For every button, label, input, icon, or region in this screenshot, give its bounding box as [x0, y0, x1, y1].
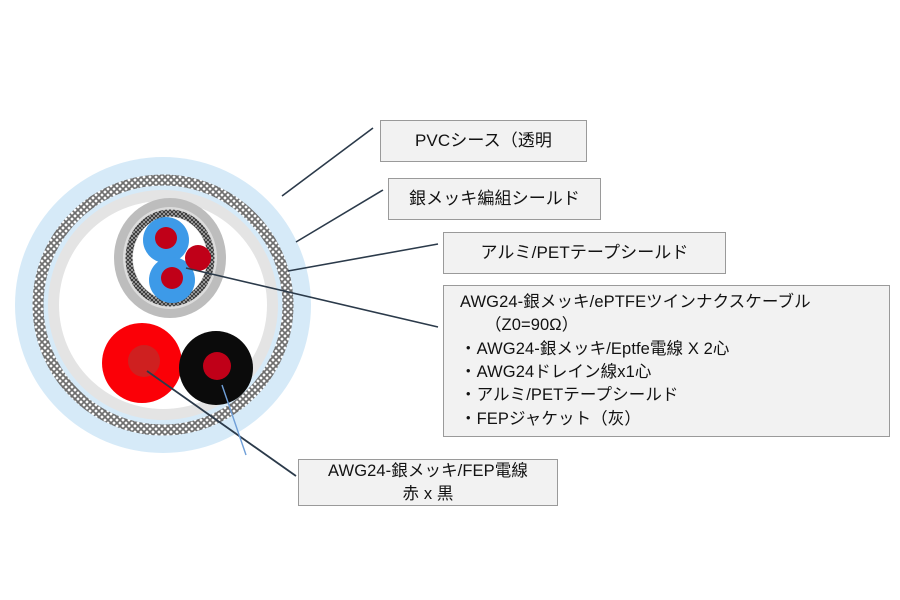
leader-pvc-sheath — [282, 128, 373, 196]
black-fep-wire-core — [203, 352, 231, 380]
red-fep-wire-core — [128, 345, 160, 377]
leader-braid-shield — [296, 190, 383, 242]
callout-fep-wire: AWG24-銀メッキ/FEP電線 赤 x 黒 — [298, 459, 558, 506]
diagram-canvas: PVCシース（透明 銀メッキ編組シールド アルミ/PETテープシールド AWG2… — [0, 0, 900, 600]
twinax-conductor-1-core — [155, 227, 177, 249]
leader-tape-shield — [288, 244, 438, 271]
callout-twinax-cable: AWG24-銀メッキ/ePTFEツインナクスケーブル （Z0=90Ω） ・AWG… — [443, 285, 890, 437]
callout-braid-shield: 銀メッキ編組シールド — [388, 178, 601, 220]
twinax-conductor-2-core — [161, 267, 183, 289]
callout-pvc-sheath: PVCシース（透明 — [380, 120, 587, 162]
twinax-drain-wire — [185, 245, 211, 271]
callout-tape-shield: アルミ/PETテープシールド — [443, 232, 726, 274]
